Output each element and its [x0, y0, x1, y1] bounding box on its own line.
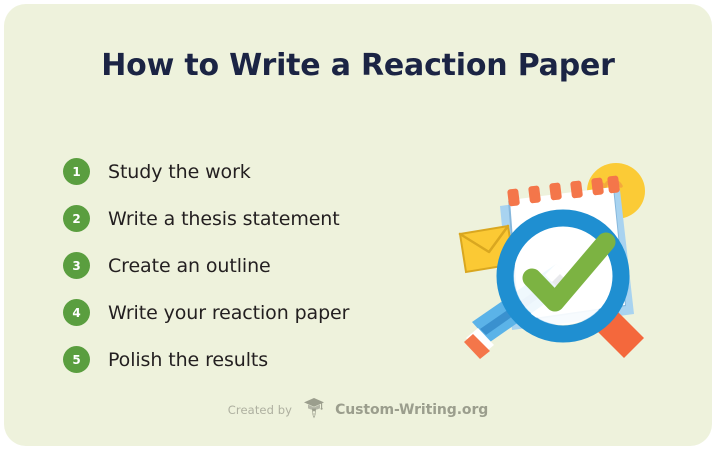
footer-credit: Created by Custom-Writing.org	[4, 396, 712, 424]
step-number-badge: 5	[63, 346, 90, 373]
list-item: 2 Write a thesis statement	[63, 195, 463, 242]
step-number-badge: 2	[63, 205, 90, 232]
step-label: Study the work	[108, 161, 251, 183]
step-label: Create an outline	[108, 255, 271, 277]
step-number-badge: 3	[63, 252, 90, 279]
step-number-badge: 1	[63, 158, 90, 185]
list-item: 3 Create an outline	[63, 242, 463, 289]
graduation-cap-pen-nib-icon	[302, 396, 326, 424]
step-label: Write a thesis statement	[108, 208, 340, 230]
notepad-magnifier-checkmark-illustration	[448, 156, 698, 376]
page-title: How to Write a Reaction Paper	[4, 48, 712, 83]
steps-list: 1 Study the work 2 Write a thesis statem…	[63, 148, 463, 383]
step-label: Write your reaction paper	[108, 302, 349, 324]
step-label: Polish the results	[108, 349, 268, 371]
infographic-card: How to Write a Reaction Paper 1 Study th…	[4, 4, 712, 446]
list-item: 4 Write your reaction paper	[63, 289, 463, 336]
footer-brand-name: Custom-Writing.org	[335, 402, 488, 418]
footer-created-by-label: Created by	[228, 403, 292, 417]
list-item: 1 Study the work	[63, 148, 463, 195]
list-item: 5 Polish the results	[63, 336, 463, 383]
step-number-badge: 4	[63, 299, 90, 326]
